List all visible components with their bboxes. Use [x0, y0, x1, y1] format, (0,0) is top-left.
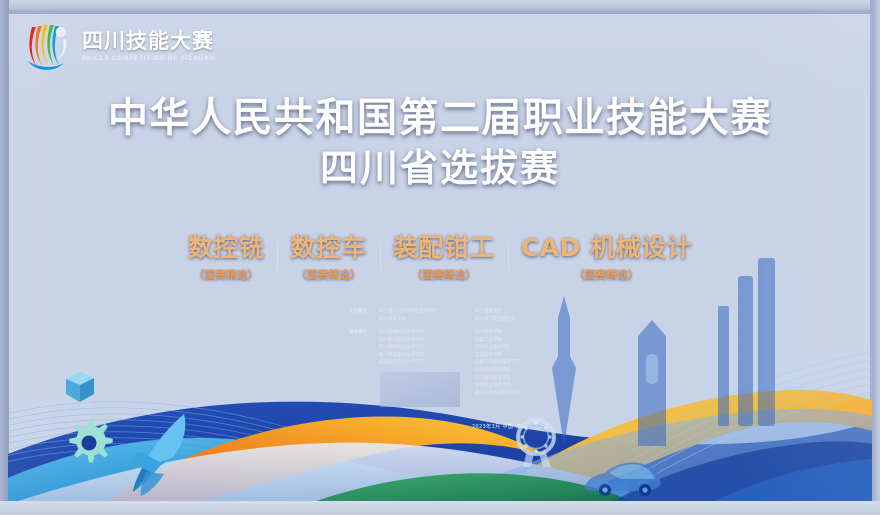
car-icon	[581, 457, 665, 497]
category-name: 数控铣	[188, 234, 265, 263]
category-name: CAD 机械设计	[521, 234, 692, 263]
page-title-line2: 四川省选拔赛	[8, 145, 872, 193]
credit-entry: 成都工业职业技术学院	[475, 359, 571, 367]
category-row: 数控铣 （国赛精选） 数控车 （国赛精选） 装配钳工 （国赛精选） CAD 机械…	[8, 234, 872, 282]
credit-entry: 四川护理职业学院	[475, 367, 571, 375]
logo-name-cn: 四川技能大赛	[82, 30, 215, 52]
rocket-icon	[120, 410, 192, 496]
credit-entry: 四川交通职业技术学院	[379, 329, 475, 337]
cube-icon	[63, 370, 97, 406]
host-group: 主办单位： 四川省人力资源和社会保障厅 四川省总工会 四川省教育厅 四川省工商业…	[349, 308, 649, 323]
category-tag: （国赛精选）	[188, 267, 265, 282]
category-name: 装配钳工	[393, 234, 495, 263]
host-col-1: 四川省人力资源和社会保障厅 四川省总工会	[379, 308, 475, 323]
logo-name-en: SKILLS COMPETITION OF SICHUAN	[82, 55, 215, 62]
credit-entry: 四川省总工会	[379, 316, 475, 324]
backdrop-photo: 四川技能大赛 SKILLS COMPETITION OF SICHUAN 中华人…	[0, 0, 880, 515]
credit-entry: 四川机电职业技术学院	[379, 352, 475, 360]
sichuan-skills-flame-logo-icon	[22, 18, 74, 74]
bearing-ring-icon	[513, 417, 559, 467]
credit-entry: 四川省工商业联合会	[475, 316, 571, 324]
organizer-label: 承办单位：	[349, 329, 379, 397]
credit-entry: 四川城市职业学院	[475, 375, 571, 383]
credit-entry: 四川航天职业技术学院	[379, 337, 475, 345]
credit-entry: 四川省人力资源和社会保障厅	[379, 308, 475, 316]
competition-logo: 四川技能大赛 SKILLS COMPETITION OF SICHUAN	[22, 18, 215, 74]
category-item: CAD 机械设计 （国赛精选）	[508, 234, 705, 282]
credit-entry: 四川建筑职业技术学院	[379, 344, 475, 352]
credit-entry: 宜宾技师学院	[475, 352, 571, 360]
category-tag: （国赛精选）	[393, 267, 495, 282]
page-title-line1: 中华人民共和国第二届职业技能大赛	[8, 94, 872, 143]
wall-bottom-edge	[0, 501, 880, 515]
credit-entry: 成都工业学院	[475, 337, 571, 345]
category-tag: （国赛精选）	[521, 267, 692, 282]
category-item: 装配钳工 （国赛精选）	[380, 234, 508, 282]
organizer-col-2: 四川旅游学院 成都工业学院 泸州职业技术学院 宜宾技师学院 成都工业职业技术学院…	[475, 329, 571, 397]
credit-entry: 泸州职业技术学院	[475, 344, 571, 352]
category-item: 数控车 （国赛精选）	[277, 234, 380, 282]
gear-icon	[63, 417, 115, 469]
title-block: 中华人民共和国第二届职业技能大赛 四川省选拔赛	[8, 94, 872, 192]
backdrop-board: 四川技能大赛 SKILLS COMPETITION OF SICHUAN 中华人…	[8, 12, 872, 504]
credit-entry: 四川旅游学院	[475, 329, 571, 337]
credit-entry: 宜宾职业技术学院	[475, 382, 571, 390]
credit-entry: 四川交通运输职业学校	[475, 390, 571, 398]
category-tag: （国赛精选）	[290, 267, 367, 282]
date-location-text: 2023年3月 中国·四川	[349, 423, 649, 430]
credit-entry: 成都航空职业技术学院	[379, 359, 475, 367]
category-item: 数控铣 （国赛精选）	[175, 234, 278, 282]
credit-entry: 四川省教育厅	[475, 308, 571, 316]
category-name: 数控车	[290, 234, 367, 263]
host-label: 主办单位：	[349, 308, 379, 323]
blank-placeholder-panel	[380, 372, 460, 407]
host-col-2: 四川省教育厅 四川省工商业联合会	[475, 308, 571, 323]
